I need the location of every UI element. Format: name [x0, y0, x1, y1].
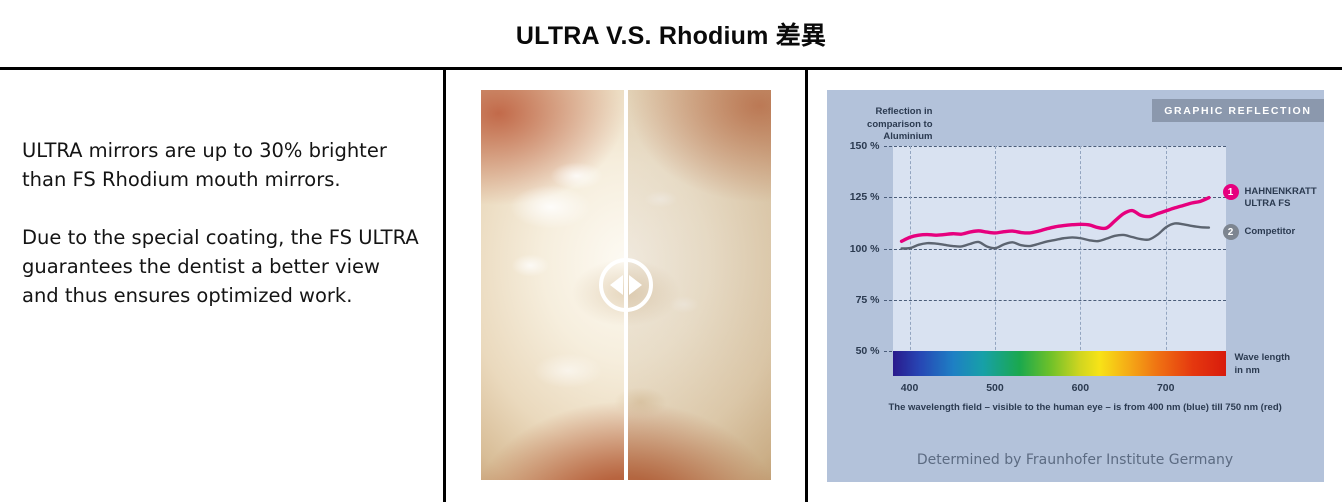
visible-spectrum-bar: [893, 351, 1226, 376]
y-axis-tick-label: 150 %: [850, 140, 880, 152]
slide-root: ULTRA V.S. Rhodium 差異 ULTRA mirrors are …: [0, 0, 1342, 502]
y-axis-tick-label: 75 %: [856, 294, 880, 306]
arrow-right-icon: [629, 275, 642, 295]
x-axis-tick-label: 600: [1072, 382, 1090, 394]
legend-entry-ultra: HAHNENKRATT ULTRA FS: [1245, 186, 1317, 210]
reflection-curves: [893, 146, 1226, 351]
legend-marker-1: 1: [1223, 184, 1239, 200]
chart-source-note: Determined by Fraunhofer Institute Germa…: [827, 452, 1324, 468]
legend-ultra-line1: HAHNENKRATT: [1245, 186, 1317, 198]
y-axis-tick-label: 50 %: [856, 345, 880, 357]
tooth-photo[interactable]: [481, 90, 771, 480]
y-axis-tick-label: 125 %: [850, 191, 880, 203]
description-panel: ULTRA mirrors are up to 30% brighter tha…: [0, 68, 443, 502]
plot-area: 50 %75 %100 %125 %150 %: [893, 146, 1226, 351]
y-axis-title: Reflection in comparison to Aluminium: [837, 106, 933, 144]
wave-length-label: Wave length in nm: [1235, 352, 1291, 377]
series-line: [901, 198, 1208, 242]
legend-marker-2: 2: [1223, 224, 1239, 240]
legend-entry-competitor: Competitor: [1245, 226, 1296, 238]
page-title-bar: ULTRA V.S. Rhodium 差異: [0, 0, 1342, 68]
description-paragraph-1: ULTRA mirrors are up to 30% brighter tha…: [22, 136, 421, 194]
page-title: ULTRA V.S. Rhodium 差異: [516, 16, 826, 52]
reflection-chart-panel: GRAPHIC REFLECTION Reflection in compari…: [827, 90, 1324, 482]
arrow-left-icon: [610, 275, 623, 295]
x-axis-tick-label: 400: [901, 382, 919, 394]
wave-length-label-line1: Wave length: [1235, 352, 1291, 365]
chart-panel-wrap: GRAPHIC REFLECTION Reflection in compari…: [808, 68, 1342, 502]
legend-competitor-line1: Competitor: [1245, 226, 1296, 238]
description-paragraph-2: Due to the special coating, the FS ULTRA…: [22, 223, 421, 310]
before-after-slider-handle[interactable]: [599, 258, 653, 312]
comparison-image-panel: [446, 68, 805, 502]
x-axis-tick-label: 700: [1157, 382, 1175, 394]
wave-length-label-line2: in nm: [1235, 365, 1291, 378]
x-axis-caption: The wavelength field – visible to the hu…: [889, 402, 1309, 413]
graphic-reflection-badge: GRAPHIC REFLECTION: [1152, 99, 1323, 122]
legend-ultra-line2: ULTRA FS: [1245, 198, 1317, 210]
y-axis-tick-label: 100 %: [850, 243, 880, 255]
x-axis-tick-label: 500: [986, 382, 1004, 394]
